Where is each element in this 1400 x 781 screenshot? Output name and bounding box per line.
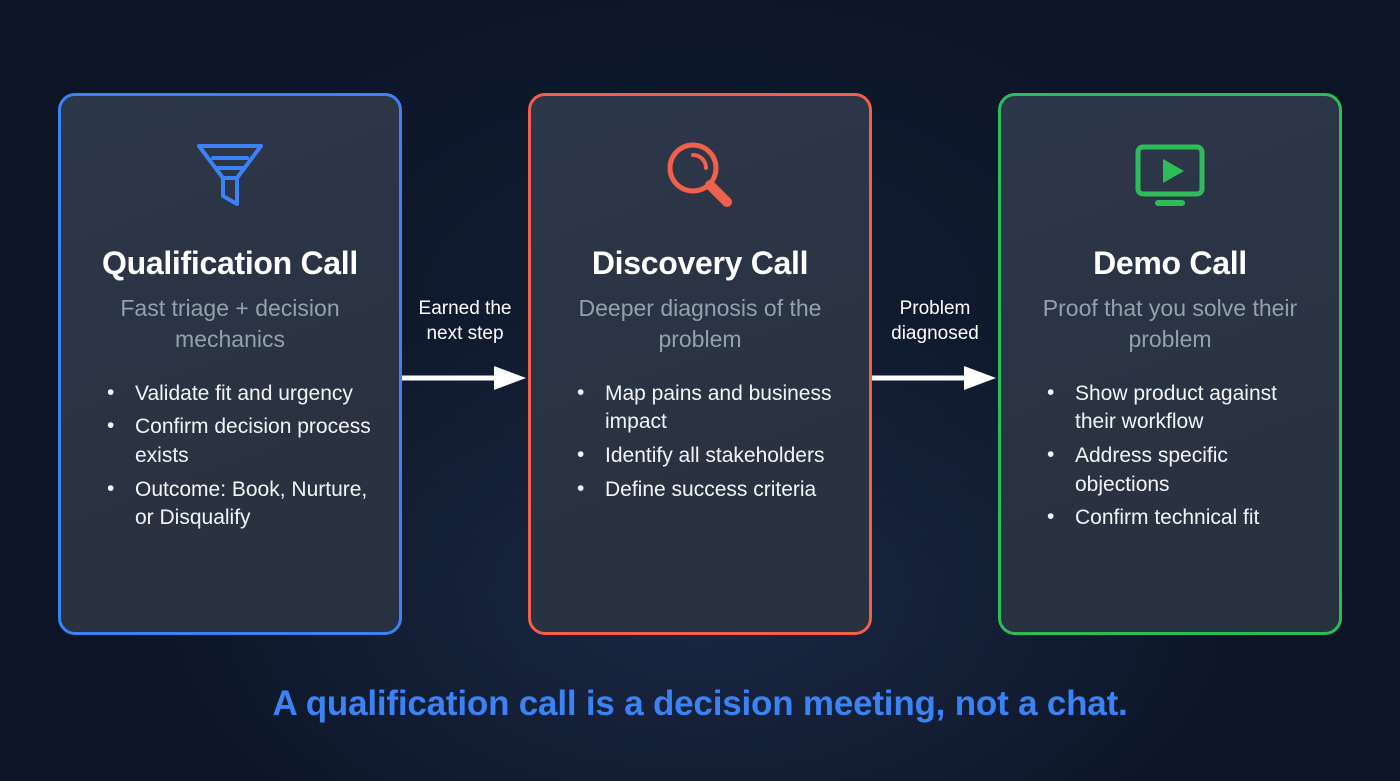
card-subtitle: Proof that you solve their problem xyxy=(1021,293,1319,354)
card-subtitle: Fast triage + decision mechanics xyxy=(81,293,379,354)
list-item: Validate fit and urgency xyxy=(103,380,379,409)
connector-label: Earned the next step xyxy=(419,296,512,347)
arrow-right-icon xyxy=(872,365,998,391)
card-title: Discovery Call xyxy=(592,246,808,281)
card-subtitle: Deeper diagnosis of the problem xyxy=(551,293,849,354)
stage-card-demo-call[interactable]: Demo Call Proof that you solve their pro… xyxy=(998,93,1342,635)
funnel-icon xyxy=(193,130,267,222)
connector-qualification-to-discovery: Earned the next step xyxy=(402,296,528,391)
list-item: Confirm technical fit xyxy=(1043,504,1319,533)
list-item: Address specific objections xyxy=(1043,442,1319,499)
connector-discovery-to-demo: Problem diagnosed xyxy=(872,296,998,391)
card-title: Qualification Call xyxy=(102,246,358,281)
footer-caption: A qualification call is a decision meeti… xyxy=(0,684,1400,724)
card-bullet-list: Validate fit and urgency Confirm decisio… xyxy=(81,380,379,538)
list-item: Define success criteria xyxy=(573,476,849,505)
stage-card-discovery-call[interactable]: Discovery Call Deeper diagnosis of the p… xyxy=(528,93,872,635)
card-title: Demo Call xyxy=(1093,246,1247,281)
magnifier-icon xyxy=(663,130,737,222)
list-item: Identify all stakeholders xyxy=(573,442,849,471)
monitor-play-icon xyxy=(1131,130,1209,222)
list-item: Show product against their workflow xyxy=(1043,380,1319,437)
connector-label: Problem diagnosed xyxy=(891,296,979,347)
list-item: Outcome: Book, Nurture, or Disqualify xyxy=(103,476,379,533)
stage-card-qualification-call[interactable]: Qualification Call Fast triage + decisio… xyxy=(58,93,402,635)
arrow-right-icon xyxy=(402,365,528,391)
infographic-canvas: Qualification Call Fast triage + decisio… xyxy=(0,0,1400,781)
card-bullet-list: Show product against their workflow Addr… xyxy=(1021,380,1319,538)
list-item: Confirm decision process exists xyxy=(103,413,379,470)
card-bullet-list: Map pains and business impact Identify a… xyxy=(551,380,849,509)
list-item: Map pains and business impact xyxy=(573,380,849,437)
